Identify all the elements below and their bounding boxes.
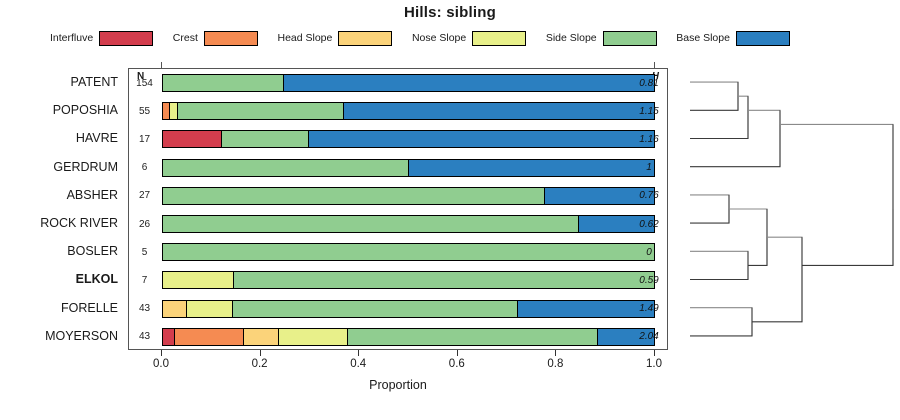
y-axis-label: GERDRUM — [0, 153, 118, 181]
chart-row: 432.04 — [129, 323, 669, 351]
x-axis-tick-mark — [161, 350, 162, 356]
legend-swatch — [338, 31, 392, 46]
y-axis-labels: PATENTPOPOSHIAHAVREGERDRUMABSHERROCK RIV… — [0, 68, 124, 350]
bar-segment[interactable] — [309, 131, 654, 147]
bar-segment[interactable] — [187, 301, 233, 317]
dendrogram-branch — [690, 322, 752, 336]
chart-row: 171.16 — [129, 125, 669, 153]
legend-item-label: Head Slope — [277, 32, 332, 44]
dendrogram-branch — [748, 237, 767, 265]
frame-tick — [654, 62, 655, 68]
dendrogram — [668, 60, 900, 360]
x-axis-tick-mark — [358, 350, 359, 356]
legend-swatch — [736, 31, 790, 46]
row-n-value: 17 — [129, 125, 160, 153]
bar-segment[interactable] — [163, 188, 545, 204]
x-axis-tick-label: 0.4 — [350, 358, 366, 370]
row-h-value: 0.59 — [629, 266, 669, 294]
row-n-value: 7 — [129, 266, 160, 294]
x-axis-tick-mark — [555, 350, 556, 356]
legend-swatch — [603, 31, 657, 46]
bar-segment[interactable] — [344, 103, 654, 119]
dendrogram-branch — [738, 96, 748, 110]
legend: InterfluveCrestHead SlopeNose SlopeSide … — [50, 28, 790, 48]
dendrogram-branch — [690, 265, 748, 279]
legend-item: Crest — [173, 31, 258, 46]
bar-segment[interactable] — [284, 75, 654, 91]
row-n-value: 6 — [129, 154, 160, 182]
bar-segment[interactable] — [279, 329, 348, 345]
dendrogram-branch — [748, 110, 780, 124]
bar-segment[interactable] — [222, 131, 310, 147]
dendrogram-branch — [690, 82, 738, 96]
dendrogram-branch — [752, 265, 802, 321]
bar-segment[interactable] — [163, 216, 579, 232]
legend-item: Side Slope — [546, 31, 657, 46]
stacked-bar[interactable] — [162, 271, 655, 289]
legend-item: Head Slope — [277, 31, 392, 46]
x-axis-tick-label: 0.0 — [153, 358, 169, 370]
x-axis-title: Proportion — [128, 378, 668, 392]
chart-row: 61 — [129, 154, 669, 182]
x-axis-tick-mark — [457, 350, 458, 356]
row-n-value: 55 — [129, 97, 160, 125]
x-axis-tick-label: 1.0 — [646, 358, 662, 370]
row-n-value: 5 — [129, 238, 160, 266]
chart-row: 551.15 — [129, 97, 669, 125]
stacked-bar[interactable] — [162, 130, 655, 148]
stacked-bar[interactable] — [162, 243, 655, 261]
dendrogram-branch — [780, 124, 893, 209]
dendrogram-branch — [690, 251, 748, 265]
chart-root: Hills: sibling InterfluveCrestHead Slope… — [0, 0, 900, 420]
dendrogram-branch — [767, 237, 802, 265]
legend-item: Interfluve — [50, 31, 153, 46]
frame-tick — [161, 62, 162, 68]
legend-item: Nose Slope — [412, 31, 526, 46]
chart-row: 1540.81 — [129, 69, 669, 97]
x-axis-tick-mark — [654, 350, 655, 356]
bar-segment[interactable] — [163, 272, 234, 288]
chart-row: 260.62 — [129, 210, 669, 238]
dendrogram-branch — [690, 308, 752, 322]
bar-segment[interactable] — [163, 75, 284, 91]
dendrogram-branch — [690, 96, 738, 110]
dendrogram-svg — [668, 60, 900, 360]
bar-segment[interactable] — [163, 329, 175, 345]
y-axis-label: HAVRE — [0, 124, 118, 152]
legend-item-label: Interfluve — [50, 32, 93, 44]
legend-swatch — [99, 31, 153, 46]
bar-segment[interactable] — [348, 329, 598, 345]
row-n-value: 154 — [129, 69, 160, 97]
stacked-bar[interactable] — [162, 74, 655, 92]
row-n-value: 43 — [129, 295, 160, 323]
stacked-bar[interactable] — [162, 328, 655, 346]
x-axis-tick-label: 0.6 — [449, 358, 465, 370]
bar-segment[interactable] — [163, 244, 654, 260]
bar-segment[interactable] — [178, 103, 344, 119]
stacked-bar[interactable] — [162, 300, 655, 318]
row-h-value: 1.15 — [629, 97, 669, 125]
x-axis-tick-label: 0.8 — [547, 358, 563, 370]
dendrogram-branch — [802, 209, 893, 265]
page-title: Hills: sibling — [0, 4, 900, 21]
stacked-bar[interactable] — [162, 187, 655, 205]
bar-segment[interactable] — [163, 160, 409, 176]
dendrogram-branch — [690, 124, 780, 166]
y-axis-label: ROCK RIVER — [0, 209, 118, 237]
y-axis-label: PATENT — [0, 68, 118, 96]
row-n-value: 27 — [129, 182, 160, 210]
legend-swatch — [472, 31, 526, 46]
chart-row: 270.76 — [129, 182, 669, 210]
row-n-value: 26 — [129, 210, 160, 238]
stacked-bar[interactable] — [162, 215, 655, 233]
dendrogram-branch — [690, 110, 748, 138]
chart-row: 431.49 — [129, 295, 669, 323]
y-axis-label: ABSHER — [0, 181, 118, 209]
y-axis-label: FORELLE — [0, 294, 118, 322]
legend-item-label: Side Slope — [546, 32, 597, 44]
y-axis-label: ELKOL — [0, 265, 118, 293]
legend-item-label: Crest — [173, 32, 198, 44]
bar-segment[interactable] — [234, 272, 654, 288]
dendrogram-branch — [690, 195, 729, 209]
legend-item-label: Nose Slope — [412, 32, 466, 44]
row-h-value: 0 — [629, 238, 669, 266]
chart-row: 70.59 — [129, 266, 669, 294]
chart-row: 50 — [129, 238, 669, 266]
plot-panel: N H 1540.81551.15171.1661270.76260.62507… — [128, 68, 668, 350]
stacked-bar[interactable] — [162, 159, 655, 177]
dendrogram-branch — [729, 209, 767, 237]
stacked-bar[interactable] — [162, 102, 655, 120]
y-axis-label: POPOSHIA — [0, 96, 118, 124]
bar-segment[interactable] — [175, 329, 244, 345]
legend-item: Base Slope — [676, 31, 790, 46]
row-n-value: 43 — [129, 323, 160, 351]
x-axis-tick-mark — [260, 350, 261, 356]
legend-item-label: Base Slope — [676, 32, 730, 44]
row-h-value: 1.49 — [629, 295, 669, 323]
bar-segment[interactable] — [170, 103, 178, 119]
bar-segment[interactable] — [244, 329, 279, 345]
row-h-value: 2.04 — [629, 323, 669, 351]
row-h-value: 1 — [629, 154, 669, 182]
bar-segment[interactable] — [409, 160, 654, 176]
bar-segment[interactable] — [163, 131, 222, 147]
x-axis-tick-label: 0.2 — [252, 358, 268, 370]
row-h-value: 0.81 — [629, 69, 669, 97]
y-axis-label: MOYERSON — [0, 322, 118, 350]
legend-swatch — [204, 31, 258, 46]
y-axis-label: BOSLER — [0, 237, 118, 265]
bar-segment[interactable] — [163, 301, 187, 317]
row-h-value: 0.76 — [629, 182, 669, 210]
bar-segment[interactable] — [163, 103, 170, 119]
row-h-value: 0.62 — [629, 210, 669, 238]
dendrogram-branch — [690, 209, 729, 223]
bar-segment[interactable] — [233, 301, 518, 317]
row-h-value: 1.16 — [629, 125, 669, 153]
